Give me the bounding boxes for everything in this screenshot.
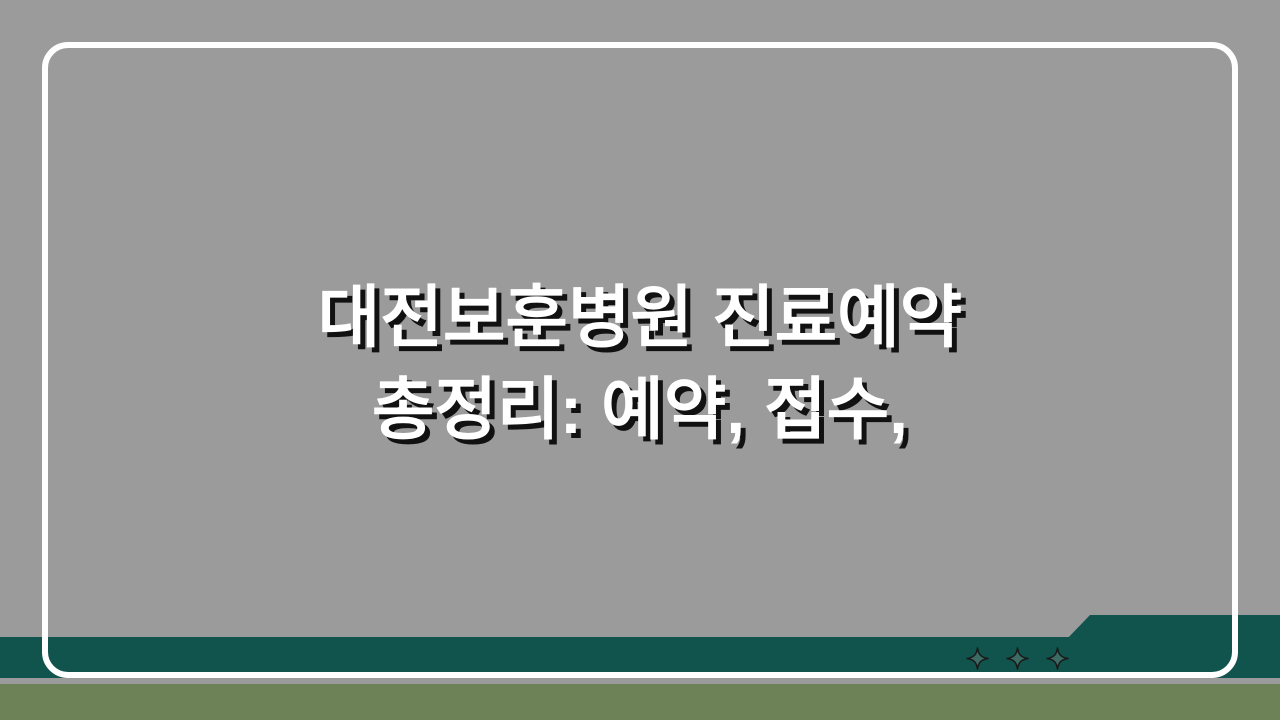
- page-title: 대전보훈병원 진료예약 총정리: 예약, 접수,: [310, 272, 970, 456]
- sparkle-diamond-icon: [1006, 647, 1029, 670]
- sparkle-decoration-group: [966, 645, 1076, 671]
- teal-footer-band: [0, 637, 1280, 678]
- sparkle-diamond-icon: [1046, 647, 1069, 670]
- title-container: 대전보훈병원 진료예약 총정리: 예약, 접수,: [0, 0, 1280, 637]
- sparkle-diamond-icon: [966, 647, 989, 670]
- thumbnail-canvas: 대전보훈병원 진료예약 총정리: 예약, 접수,: [0, 0, 1280, 720]
- olive-footer-band: [0, 684, 1280, 720]
